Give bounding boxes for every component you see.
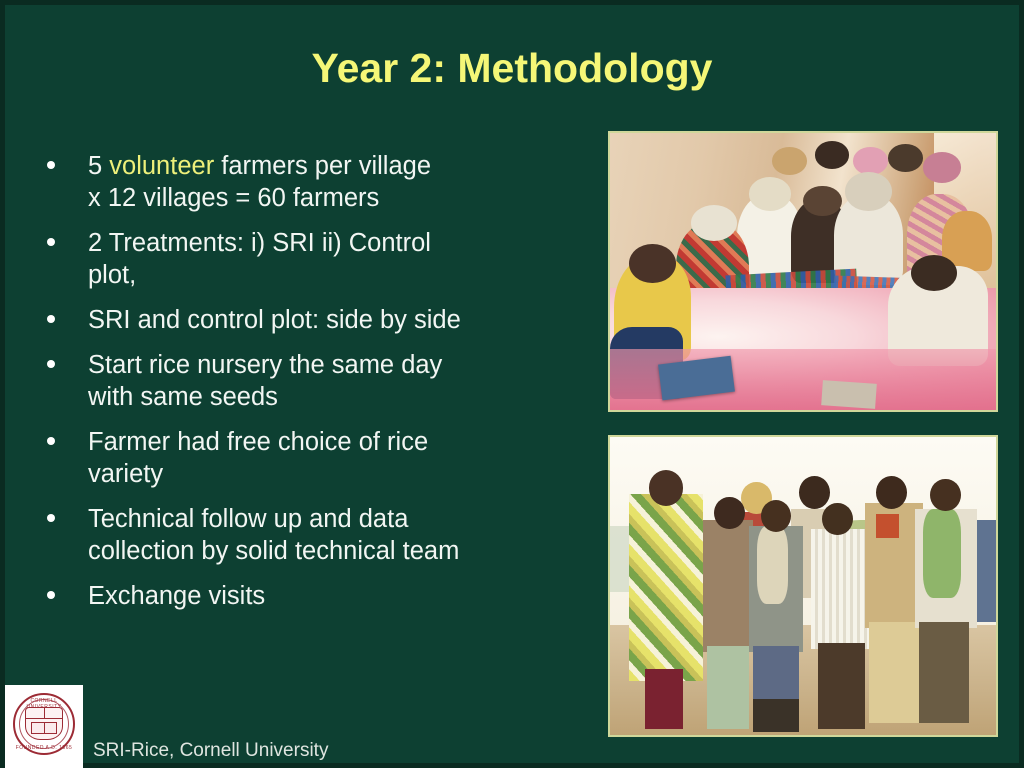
bullet-dot-icon <box>47 315 55 323</box>
list-item: Technical follow up and data collection … <box>35 503 585 567</box>
bullet-dot-icon <box>47 591 55 599</box>
bullet-dot-icon <box>47 161 55 169</box>
cornell-seal-icon: CORNELL UNIVERSITY FOUNDED A.D. 1865 <box>13 693 75 755</box>
photo-farmer-group-portrait <box>610 437 996 735</box>
list-item: Start rice nursery the same day with sam… <box>35 349 585 413</box>
footer-text: SRI-Rice, Cornell University <box>93 740 328 762</box>
bullet-dot-icon <box>47 514 55 522</box>
bullet-dot-icon <box>47 437 55 445</box>
bullet-text-4: Start rice nursery the same day with sam… <box>88 351 442 411</box>
photo-farmer-group-meeting <box>610 133 996 410</box>
list-item: Exchange visits <box>35 580 585 612</box>
bullet-text-2: 2 Treatments: i) SRI ii) Control plot, <box>88 229 431 289</box>
bullet-highlight-volunteer: volunteer <box>109 152 214 180</box>
bullet-dot-icon <box>47 360 55 368</box>
bullet-text-1a: 5 <box>88 152 109 180</box>
list-item: 5 volunteer farmers per village x 12 vil… <box>35 150 585 214</box>
bullet-text-5: Farmer had free choice of rice variety <box>88 428 428 488</box>
seal-text-bottom: FOUNDED A.D. 1865 <box>15 745 73 751</box>
logo-container: CORNELL UNIVERSITY FOUNDED A.D. 1865 <box>5 685 83 768</box>
slide-title: Year 2: Methodology <box>5 45 1019 92</box>
list-item: Farmer had free choice of rice variety <box>35 426 585 490</box>
list-item: 2 Treatments: i) SRI ii) Control plot, <box>35 227 585 291</box>
bullet-text-6: Technical follow up and data collection … <box>88 505 459 565</box>
bullet-dot-icon <box>47 238 55 246</box>
list-item: SRI and control plot: side by side <box>35 304 585 336</box>
presentation-slide: Year 2: Methodology 5 volunteer farmers … <box>0 0 1024 768</box>
bullet-text-3: SRI and control plot: side by side <box>88 306 461 334</box>
bullet-text-7: Exchange visits <box>88 582 265 610</box>
bullet-list: 5 volunteer farmers per village x 12 vil… <box>35 150 585 625</box>
